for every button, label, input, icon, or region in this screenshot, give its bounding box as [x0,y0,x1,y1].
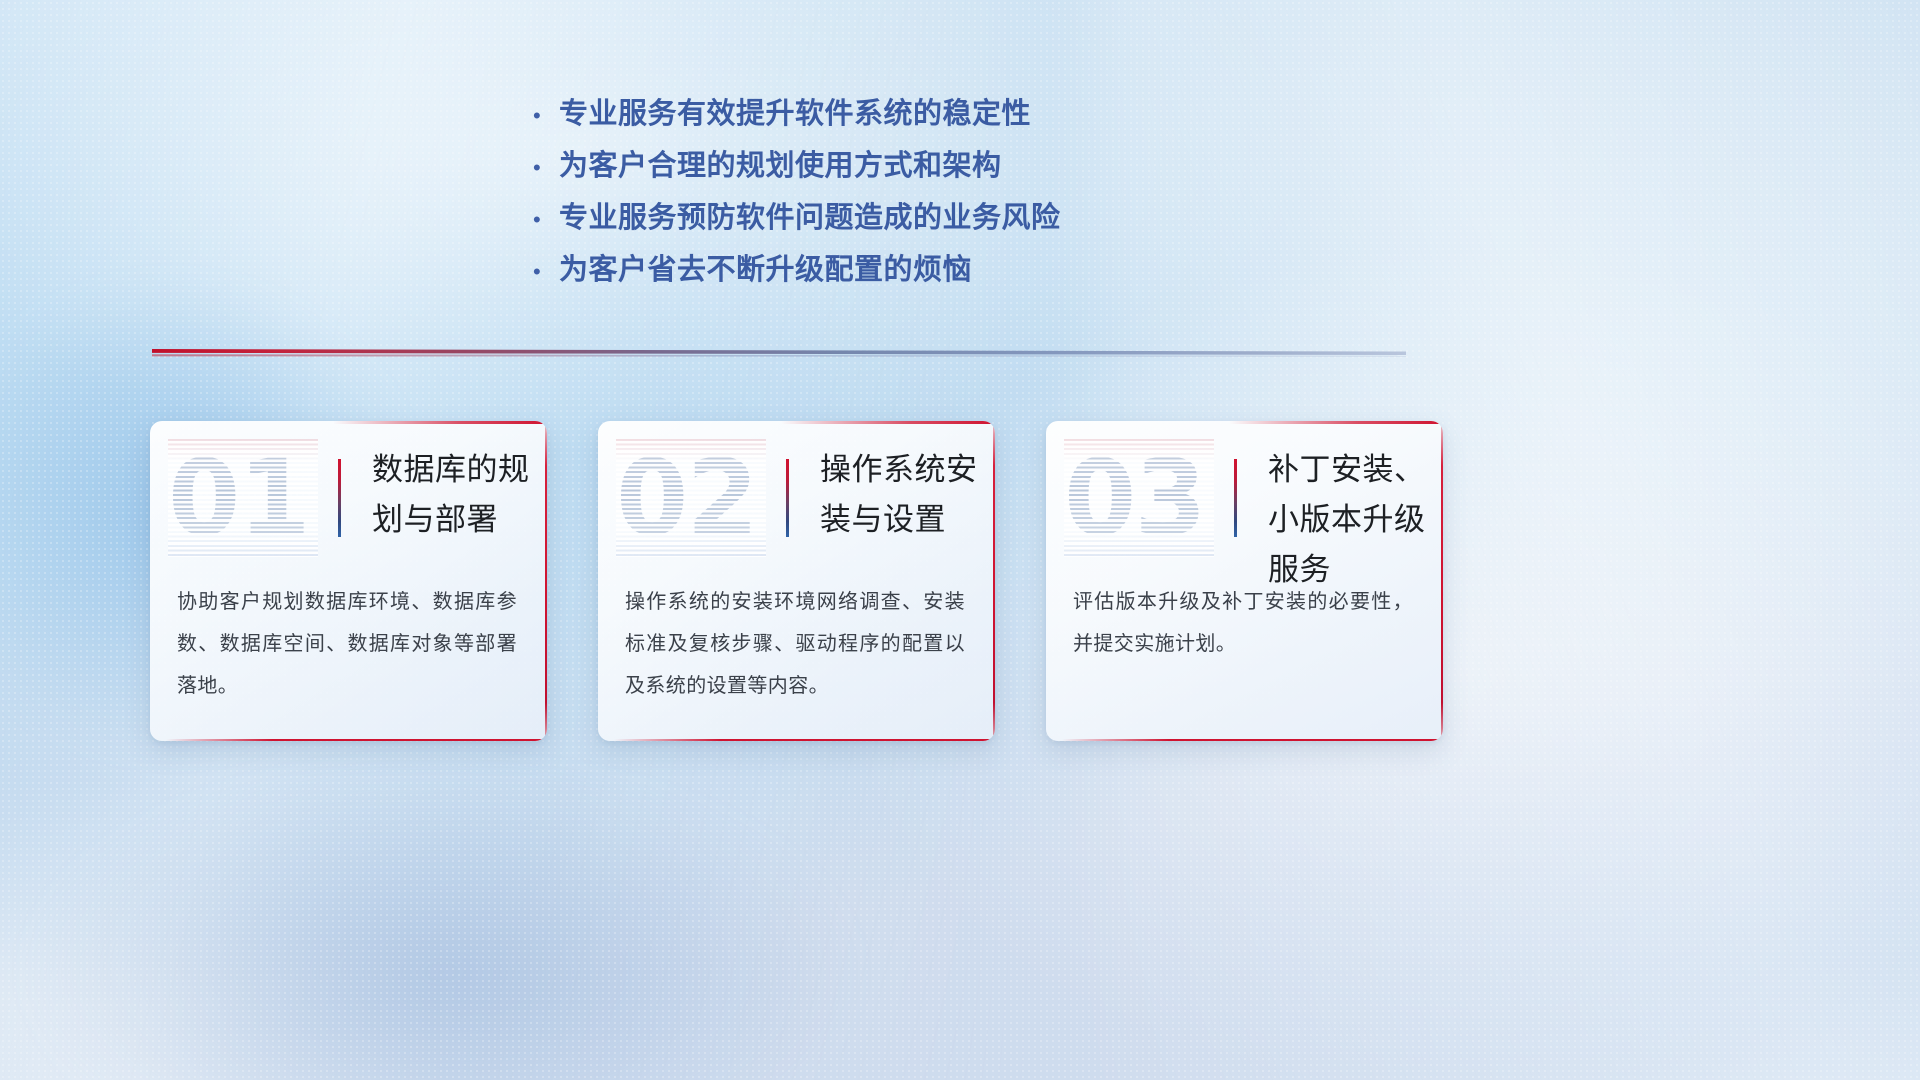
service-card-03[interactable]: 03 补丁安装、小版本升级服务 评估版本升级及补丁安装的必要性，并提交实施计划。 [1046,421,1443,741]
bullet-text: 专业服务有效提升软件系统的稳定性 [559,88,1031,140]
card-accent-edge-bottom [614,739,995,742]
card-accent-edge-bottom [1062,739,1443,742]
card-title: 操作系统安装与设置 [820,445,979,545]
divider-rule-primary [152,349,1406,355]
bullet-text: 专业服务预防软件问题造成的业务风险 [559,192,1061,244]
card-title-divider [1234,459,1237,537]
list-item: • 专业服务预防软件问题造成的业务风险 [533,192,1353,244]
card-body-text: 评估版本升级及补丁安装的必要性，并提交实施计划。 [1073,581,1413,665]
card-number-watermark: 02 [616,439,766,557]
card-accent-edge-bottom [166,739,547,742]
card-title: 数据库的规划与部署 [372,445,531,545]
card-body-text: 操作系统的安装环境网络调查、安装标准及复核步骤、驱动程序的配置以及系统的设置等内… [625,581,965,707]
bullet-text: 为客户省去不断升级配置的烦恼 [559,244,972,296]
card-title-divider [338,459,341,537]
card-number-text: 01 [168,439,318,557]
card-number-text: 03 [1064,439,1214,557]
bullet-dot-icon: • [533,142,559,194]
list-item: • 专业服务有效提升软件系统的稳定性 [533,88,1353,140]
service-card-group: 01 数据库的规划与部署 协助客户规划数据库环境、数据库参数、数据库空间、数据库… [150,421,1443,741]
bullet-dot-icon: • [533,90,559,142]
service-card-01[interactable]: 01 数据库的规划与部署 协助客户规划数据库环境、数据库参数、数据库空间、数据库… [150,421,547,741]
card-header: 03 补丁安装、小版本升级服务 [1046,421,1443,573]
card-header: 01 数据库的规划与部署 [150,421,547,573]
card-title: 补丁安装、小版本升级服务 [1268,445,1427,595]
list-item: • 为客户合理的规划使用方式和架构 [533,140,1353,192]
card-number-watermark: 03 [1064,439,1214,557]
bullet-dot-icon: • [533,194,559,246]
card-number-watermark: 01 [168,439,318,557]
service-card-02[interactable]: 02 操作系统安装与设置 操作系统的安装环境网络调查、安装标准及复核步骤、驱动程… [598,421,995,741]
list-item: • 为客户省去不断升级配置的烦恼 [533,244,1353,296]
bullet-text: 为客户合理的规划使用方式和架构 [559,140,1002,192]
card-body-text: 协助客户规划数据库环境、数据库参数、数据库空间、数据库对象等部署落地。 [177,581,517,707]
section-divider-rule [152,349,1406,358]
card-title-divider [786,459,789,537]
bullet-list: • 专业服务有效提升软件系统的稳定性 • 为客户合理的规划使用方式和架构 • 专… [533,88,1353,296]
card-header: 02 操作系统安装与设置 [598,421,995,573]
bullet-dot-icon: • [533,246,559,298]
card-number-text: 02 [616,439,766,557]
